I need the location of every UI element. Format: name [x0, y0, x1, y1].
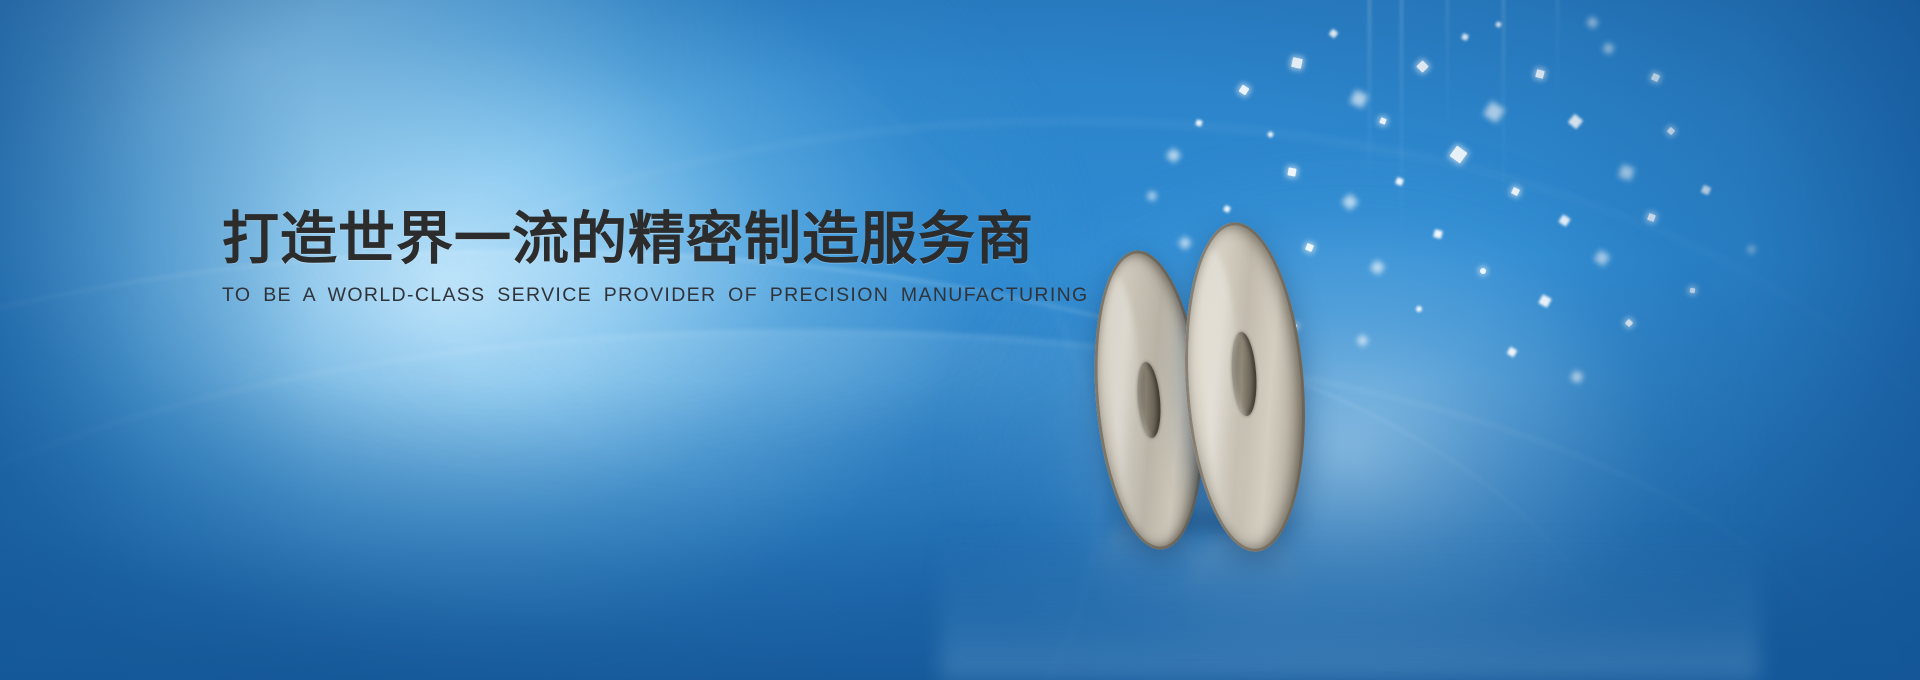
banner-headline: 打造世界一流的精密制造服务商 — [222, 206, 982, 272]
hero-banner: 打造世界一流的精密制造服务商 TO BE A WORLD-CLASS SERVI… — [0, 0, 1920, 680]
disc-bore-hole — [1229, 331, 1259, 416]
disc-bore-hole — [1135, 361, 1164, 439]
banner-subheadline: TO BE A WORLD-CLASS SERVICE PROVIDER OF … — [222, 283, 982, 307]
banner-copy: 打造世界一流的精密制造服务商 TO BE A WORLD-CLASS SERVI… — [222, 206, 982, 307]
product-image-precision-discs — [1078, 222, 1598, 680]
product-disc-front — [1175, 218, 1316, 555]
